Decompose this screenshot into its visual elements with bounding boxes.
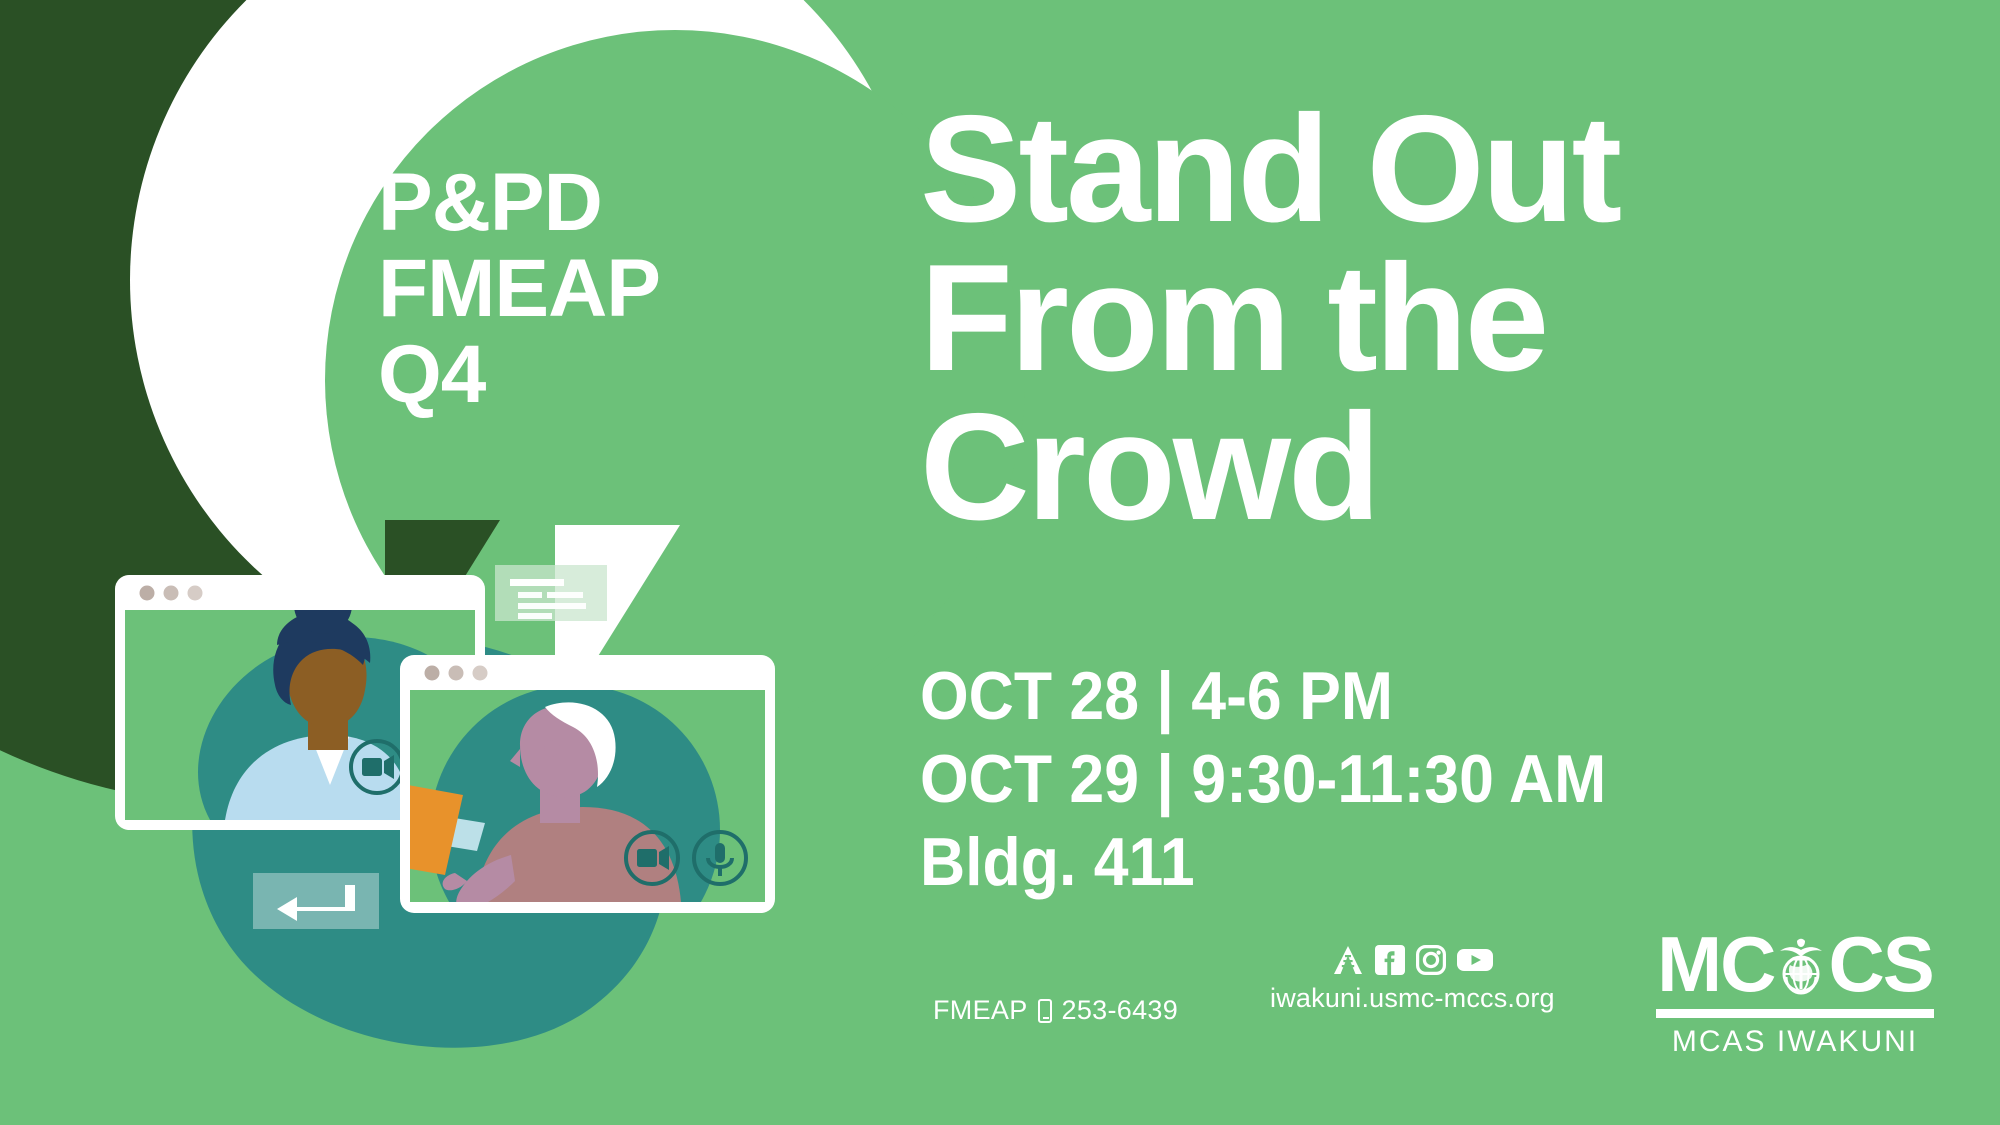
eagle-globe-anchor-icon (1770, 933, 1832, 995)
bubble-line-2: FMEAP (378, 246, 838, 332)
schedule-line-2: OCT 29 | 9:30-11:30 AM (920, 738, 1606, 821)
youtube-icon[interactable] (1457, 946, 1493, 974)
mccs-cs-text: CS (1828, 925, 1932, 1003)
social-and-website-block: iwakuni.usmc-mccs.org (1270, 945, 1555, 1014)
headline-line-3: Crowd (920, 393, 1619, 542)
window-dot (425, 666, 440, 681)
mobile-phone-icon (1038, 999, 1052, 1023)
poster-canvas: P&PD FMEAP Q4 (0, 0, 2000, 1125)
headline-line-2: From the (920, 244, 1619, 393)
video-conference-illustration (115, 555, 1015, 1125)
window-dot (164, 586, 179, 601)
headline-line-1: Stand Out (920, 95, 1619, 244)
bubble-line-3: Q4 (378, 332, 838, 418)
window-dot (188, 586, 203, 601)
page-title: Stand Out From the Crowd (920, 95, 1619, 542)
mccs-location-label: MCAS IWAKUNI (1672, 1025, 1918, 1059)
mccs-divider-bar (1656, 1009, 1934, 1018)
event-schedule: OCT 28 | 4-6 PM OCT 29 | 9:30-11:30 AM B… (920, 655, 1606, 904)
schedule-line-1: OCT 28 | 4-6 PM (920, 655, 1606, 738)
mccs-logo: MC CS MCAS IWAKU (1645, 925, 1945, 1059)
mccs-wordmark: MC CS (1657, 925, 1933, 1003)
mccs-app-icon[interactable] (1332, 945, 1364, 975)
facebook-icon[interactable] (1375, 945, 1405, 975)
window-dot (449, 666, 464, 681)
bubble-title: P&PD FMEAP Q4 (378, 160, 838, 418)
contact-label: FMEAP (933, 995, 1028, 1026)
mccs-mc-text: MC (1657, 925, 1774, 1003)
phone-number: 253-6439 (1062, 995, 1179, 1026)
bubble-line-1: P&PD (378, 160, 838, 246)
instagram-icon[interactable] (1416, 945, 1446, 975)
contact-phone-block: FMEAP 253-6439 (933, 995, 1178, 1026)
schedule-line-3: Bldg. 411 (920, 821, 1606, 904)
window-dot (140, 586, 155, 601)
chat-message-card (495, 565, 607, 621)
enter-return-key-icon (253, 873, 379, 929)
website-url[interactable]: iwakuni.usmc-mccs.org (1270, 983, 1555, 1014)
window-dot (473, 666, 488, 681)
social-icon-row (1332, 945, 1493, 975)
